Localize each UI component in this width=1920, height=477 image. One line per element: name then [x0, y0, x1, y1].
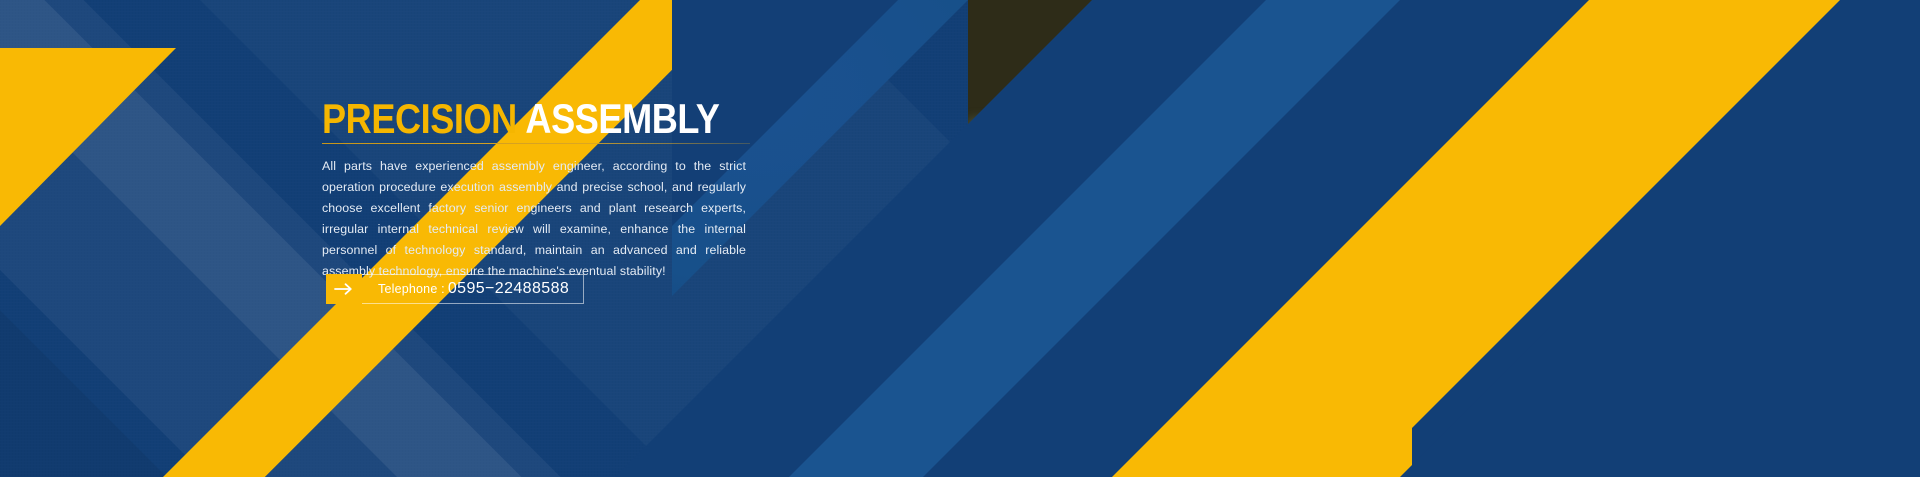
- banner-content: PRECISIONASSEMBLY All parts have experie…: [322, 0, 752, 477]
- title-highlight: PRECISION: [322, 95, 517, 142]
- arrow-right-icon[interactable]: [326, 274, 362, 304]
- telephone-cta[interactable]: Telephone : 0595−22488588: [326, 274, 584, 304]
- description-paragraph: All parts have experienced assembly engi…: [322, 156, 746, 282]
- title-underline: [322, 143, 750, 144]
- precision-assembly-banner: CE: [0, 0, 1920, 477]
- telephone-number: 0595−22488588: [448, 280, 569, 298]
- page-title: PRECISIONASSEMBLY: [322, 98, 719, 140]
- title-rest: ASSEMBLY: [525, 95, 719, 142]
- telephone-box[interactable]: Telephone : 0595−22488588: [362, 274, 584, 304]
- telephone-label: Telephone :: [378, 282, 445, 296]
